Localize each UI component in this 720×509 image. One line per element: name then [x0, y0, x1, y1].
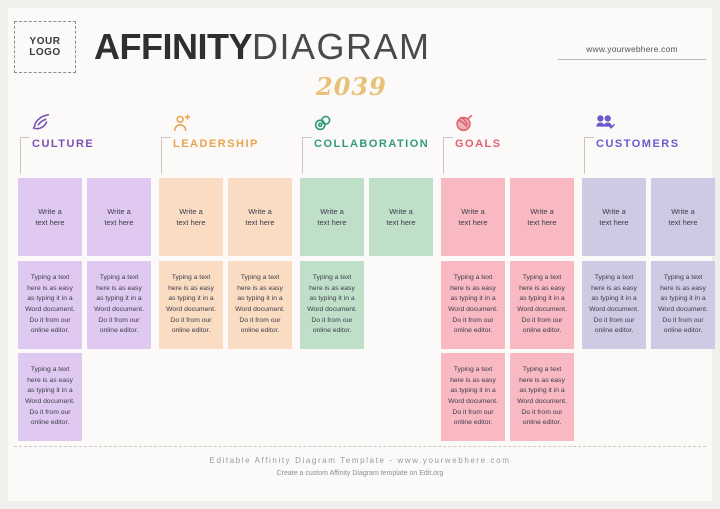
sticky-note-goals-r2c1[interactable]: Typing a text here is as easy as typing … — [441, 261, 505, 349]
footer-line-1: Editable Affinity Diagram Template - www… — [8, 456, 712, 470]
sticky-note-culture-r1c1[interactable]: Write a text here — [18, 178, 82, 256]
sticky-note-body-text: Typing a text here is as easy as typing … — [447, 365, 499, 428]
sticky-note-body-text: Typing a text here is as easy as typing … — [516, 365, 568, 428]
sticky-note-leadership-r1c1[interactable]: Write a text here — [159, 178, 223, 256]
logo-line-1: YOUR — [30, 36, 61, 48]
category-header-customers[interactable]: CUSTOMERS — [582, 112, 715, 174]
sticky-note-body-text: Typing a text here is as easy as typing … — [93, 273, 145, 336]
sticky-note-title-text: Write a text here — [176, 206, 205, 229]
poster-canvas: YOUR LOGO AFFINITYDIAGRAM 2039 www.yourw… — [8, 8, 712, 501]
category-label-leadership: LEADERSHIP — [173, 138, 259, 150]
category-bracket-goals — [443, 137, 453, 174]
title-light-part: DIAGRAM — [252, 26, 431, 67]
quill-pen-icon — [30, 112, 52, 134]
website-block: www.yourwebhere.com — [558, 44, 706, 60]
title-year: 2039 — [316, 72, 387, 101]
sticky-note-customers-r2c1[interactable]: Typing a text here is as easy as typing … — [582, 261, 646, 349]
affinity-notes-grid: Write a text hereWrite a text hereTyping… — [8, 178, 712, 423]
title-bold-part: AFFINITY — [94, 26, 252, 67]
sticky-note-goals-r3c2[interactable]: Typing a text here is as easy as typing … — [510, 353, 574, 441]
sticky-note-culture-r2c1[interactable]: Typing a text here is as easy as typing … — [18, 261, 82, 349]
sticky-note-body-text: Typing a text here is as easy as typing … — [234, 273, 286, 336]
sticky-note-culture-r3c1[interactable]: Typing a text here is as easy as typing … — [18, 353, 82, 441]
sticky-note-customers-r1c1[interactable]: Write a text here — [582, 178, 646, 256]
sticky-note-leadership-r2c2[interactable]: Typing a text here is as easy as typing … — [228, 261, 292, 349]
sticky-note-title-text: Write a text here — [317, 206, 346, 229]
page-title: AFFINITYDIAGRAM 2039 — [94, 26, 431, 78]
sticky-note-collaboration-r2c1[interactable]: Typing a text here is as easy as typing … — [300, 261, 364, 349]
sticky-note-collaboration-r1c1[interactable]: Write a text here — [300, 178, 364, 256]
sticky-note-title-text: Write a text here — [668, 206, 697, 229]
footer-divider — [14, 446, 706, 447]
footer-line-2: Create a custom Affinity Diagram templat… — [8, 470, 712, 477]
sticky-note-body-text: Typing a text here is as easy as typing … — [306, 273, 358, 336]
poster-header: YOUR LOGO AFFINITYDIAGRAM 2039 www.yourw… — [8, 8, 712, 108]
category-label-customers: CUSTOMERS — [596, 138, 680, 150]
sticky-note-leadership-r2c1[interactable]: Typing a text here is as easy as typing … — [159, 261, 223, 349]
sticky-note-body-text: Typing a text here is as easy as typing … — [588, 273, 640, 336]
category-label-goals: GOALS — [455, 138, 502, 150]
sticky-note-goals-r1c1[interactable]: Write a text here — [441, 178, 505, 256]
sticky-note-title-text: Write a text here — [527, 206, 556, 229]
sticky-note-goals-r2c2[interactable]: Typing a text here is as easy as typing … — [510, 261, 574, 349]
sticky-note-collaboration-r1c2[interactable]: Write a text here — [369, 178, 433, 256]
category-header-row: CULTURE LEADERSHIP COLLABORATION GOALS C… — [8, 112, 712, 174]
sticky-note-customers-r2c2[interactable]: Typing a text here is as easy as typing … — [651, 261, 715, 349]
logo-placeholder[interactable]: YOUR LOGO — [14, 21, 76, 73]
sticky-note-title-text: Write a text here — [104, 206, 133, 229]
sticky-note-leadership-r1c2[interactable]: Write a text here — [228, 178, 292, 256]
person-star-icon — [171, 112, 193, 134]
sticky-note-body-text: Typing a text here is as easy as typing … — [24, 273, 76, 336]
sticky-note-body-text: Typing a text here is as easy as typing … — [24, 365, 76, 428]
category-label-collaboration: COLLABORATION — [314, 138, 429, 150]
sticky-note-body-text: Typing a text here is as easy as typing … — [165, 273, 217, 336]
sticky-note-culture-r1c2[interactable]: Write a text here — [87, 178, 151, 256]
category-header-leadership[interactable]: LEADERSHIP — [159, 112, 292, 174]
sticky-note-title-text: Write a text here — [386, 206, 415, 229]
logo-line-2: LOGO — [29, 47, 60, 59]
people-group-icon — [594, 112, 616, 134]
category-header-goals[interactable]: GOALS — [441, 112, 574, 174]
sticky-note-body-text: Typing a text here is as easy as typing … — [516, 273, 568, 336]
category-bracket-collaboration — [302, 137, 312, 174]
category-label-culture: CULTURE — [32, 138, 94, 150]
sticky-note-customers-r1c2[interactable]: Write a text here — [651, 178, 715, 256]
sticky-note-culture-r2c2[interactable]: Typing a text here is as easy as typing … — [87, 261, 151, 349]
category-header-culture[interactable]: CULTURE — [18, 112, 151, 174]
sticky-note-body-text: Typing a text here is as easy as typing … — [447, 273, 499, 336]
linked-rings-icon — [312, 112, 334, 134]
category-bracket-leadership — [161, 137, 171, 174]
category-bracket-customers — [584, 137, 594, 174]
poster-footer: Editable Affinity Diagram Template - www… — [8, 456, 712, 477]
sticky-note-title-text: Write a text here — [245, 206, 274, 229]
sticky-note-goals-r3c1[interactable]: Typing a text here is as easy as typing … — [441, 353, 505, 441]
category-header-collaboration[interactable]: COLLABORATION — [300, 112, 433, 174]
category-bracket-culture — [20, 137, 30, 174]
sticky-note-title-text: Write a text here — [35, 206, 64, 229]
website-text[interactable]: www.yourwebhere.com — [558, 44, 706, 59]
sticky-note-title-text: Write a text here — [599, 206, 628, 229]
sticky-note-title-text: Write a text here — [458, 206, 487, 229]
sticky-note-body-text: Typing a text here is as easy as typing … — [657, 273, 709, 336]
website-underline — [558, 59, 706, 60]
sticky-note-goals-r1c2[interactable]: Write a text here — [510, 178, 574, 256]
target-ball-icon — [453, 112, 475, 134]
